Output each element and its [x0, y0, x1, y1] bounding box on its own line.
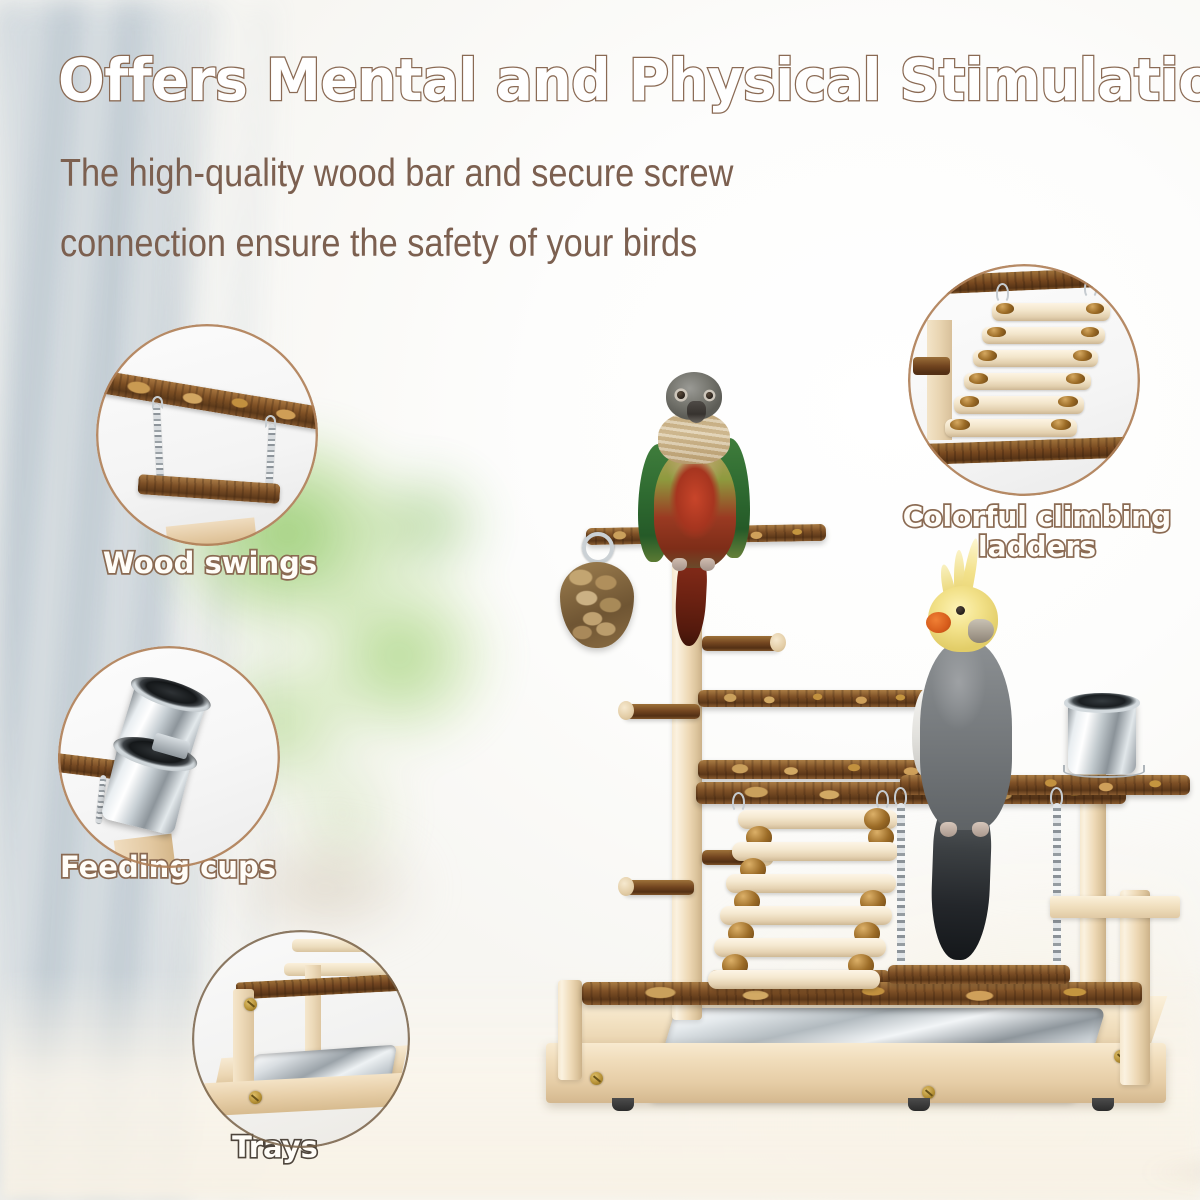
base-foot-right [1092, 1098, 1114, 1111]
ladder-clip-left [732, 792, 745, 812]
perch-stub-4 [624, 880, 694, 895]
subtitle-line-2: connection ensure the safety of your bir… [60, 222, 697, 266]
callout-ladder-bead [987, 327, 1005, 338]
cockatiel-foot-right [972, 822, 989, 837]
callout-ladder-bead [978, 350, 997, 361]
callout-ladder-clip-right [1084, 278, 1097, 298]
callout-ladder-bead [969, 373, 988, 384]
stainless-steel-feeding-cup [1068, 700, 1136, 774]
callout-wood-swings-image [96, 324, 318, 546]
callout-tray-ladder-rung [292, 939, 392, 952]
callout-ladder-bead [1058, 396, 1077, 407]
callout-label-wood-swings: Wood swings [100, 548, 320, 579]
pine-cone-ring-icon [582, 532, 614, 564]
callout-ladder-rung [973, 350, 1098, 367]
callout-trays [192, 930, 410, 1148]
wooden-platform [1050, 896, 1180, 918]
callout-ladder-bead [950, 419, 970, 430]
callout-ladder-rung [964, 373, 1092, 390]
callout-ladder-bead [960, 396, 979, 407]
base-foot-left [612, 1098, 634, 1111]
left-short-post [558, 980, 582, 1080]
callout-climbing-ladders [908, 264, 1140, 496]
callout-label-feeding-cups: Feeding cups [58, 852, 278, 883]
perch-stub-2 [624, 704, 700, 719]
upper-bark-perch [698, 690, 928, 707]
cockatiel-cheek-patch [926, 612, 951, 633]
base-foot-center [908, 1098, 930, 1111]
page-title: Offers Mental and Physical Stimulation [58, 46, 1200, 114]
callout-ladder-perch-stub [913, 357, 950, 376]
swing-seat [888, 965, 1070, 984]
pine-cone-chew-toy [560, 562, 634, 648]
conure-foot-left [672, 558, 687, 571]
base-screw-left [590, 1072, 603, 1085]
subtitle-line-1: The high-quality wood bar and secure scr… [60, 152, 733, 196]
callout-ladder-bead [996, 303, 1014, 314]
callout-ladder-bead [1051, 419, 1071, 430]
green-cheek-conure [630, 372, 760, 642]
callout-ladder-bead [1081, 327, 1099, 338]
conure-eye-right [706, 392, 713, 399]
callout-swing-hook-right [265, 415, 276, 428]
callout-feeding-cups [58, 646, 280, 868]
cockatiel-eye [956, 606, 965, 615]
callout-tray-screw-lower [249, 1091, 262, 1104]
callout-ladder-rung [954, 396, 1084, 413]
callout-ladder-bead [1066, 373, 1085, 384]
conure-foot-right [700, 558, 715, 571]
callout-label-climbing-ladders: Colorful climbing ladders [892, 502, 1182, 561]
callout-trays-image [192, 930, 410, 1148]
conure-body [654, 448, 736, 568]
callout-feeding-cups-image [58, 646, 280, 868]
swing-chain-left [897, 803, 905, 967]
callout-tray-ladder-rung [284, 963, 389, 976]
callout-ladder-rung [982, 327, 1105, 344]
product-marketing-image: Offers Mental and Physical Stimulation T… [0, 0, 1200, 1200]
conure-eye-left [677, 391, 685, 399]
callout-label-trays: Trays [205, 1132, 345, 1163]
callout-ladder-rung [992, 303, 1110, 320]
callout-ladder-rung [945, 419, 1077, 436]
conure-beak [687, 401, 706, 423]
product-shadow [1080, 1150, 1200, 1194]
cockatiel [910, 540, 1065, 960]
callout-ladder-bead [1086, 303, 1104, 314]
callout-ladder-clip-left [996, 283, 1009, 303]
callout-backdrop [96, 324, 318, 546]
base-board-front [546, 1043, 1166, 1103]
cockatiel-body [920, 640, 1012, 830]
callout-tray-screw-upper [244, 998, 257, 1011]
ladder-rung [708, 970, 880, 989]
callout-climbing-ladders-image [908, 264, 1140, 496]
callout-ladder-bead [1073, 350, 1092, 361]
callout-wood-swings [96, 324, 318, 546]
callout-swing-hook-left [152, 396, 163, 409]
cockatiel-foot-left [940, 822, 957, 837]
